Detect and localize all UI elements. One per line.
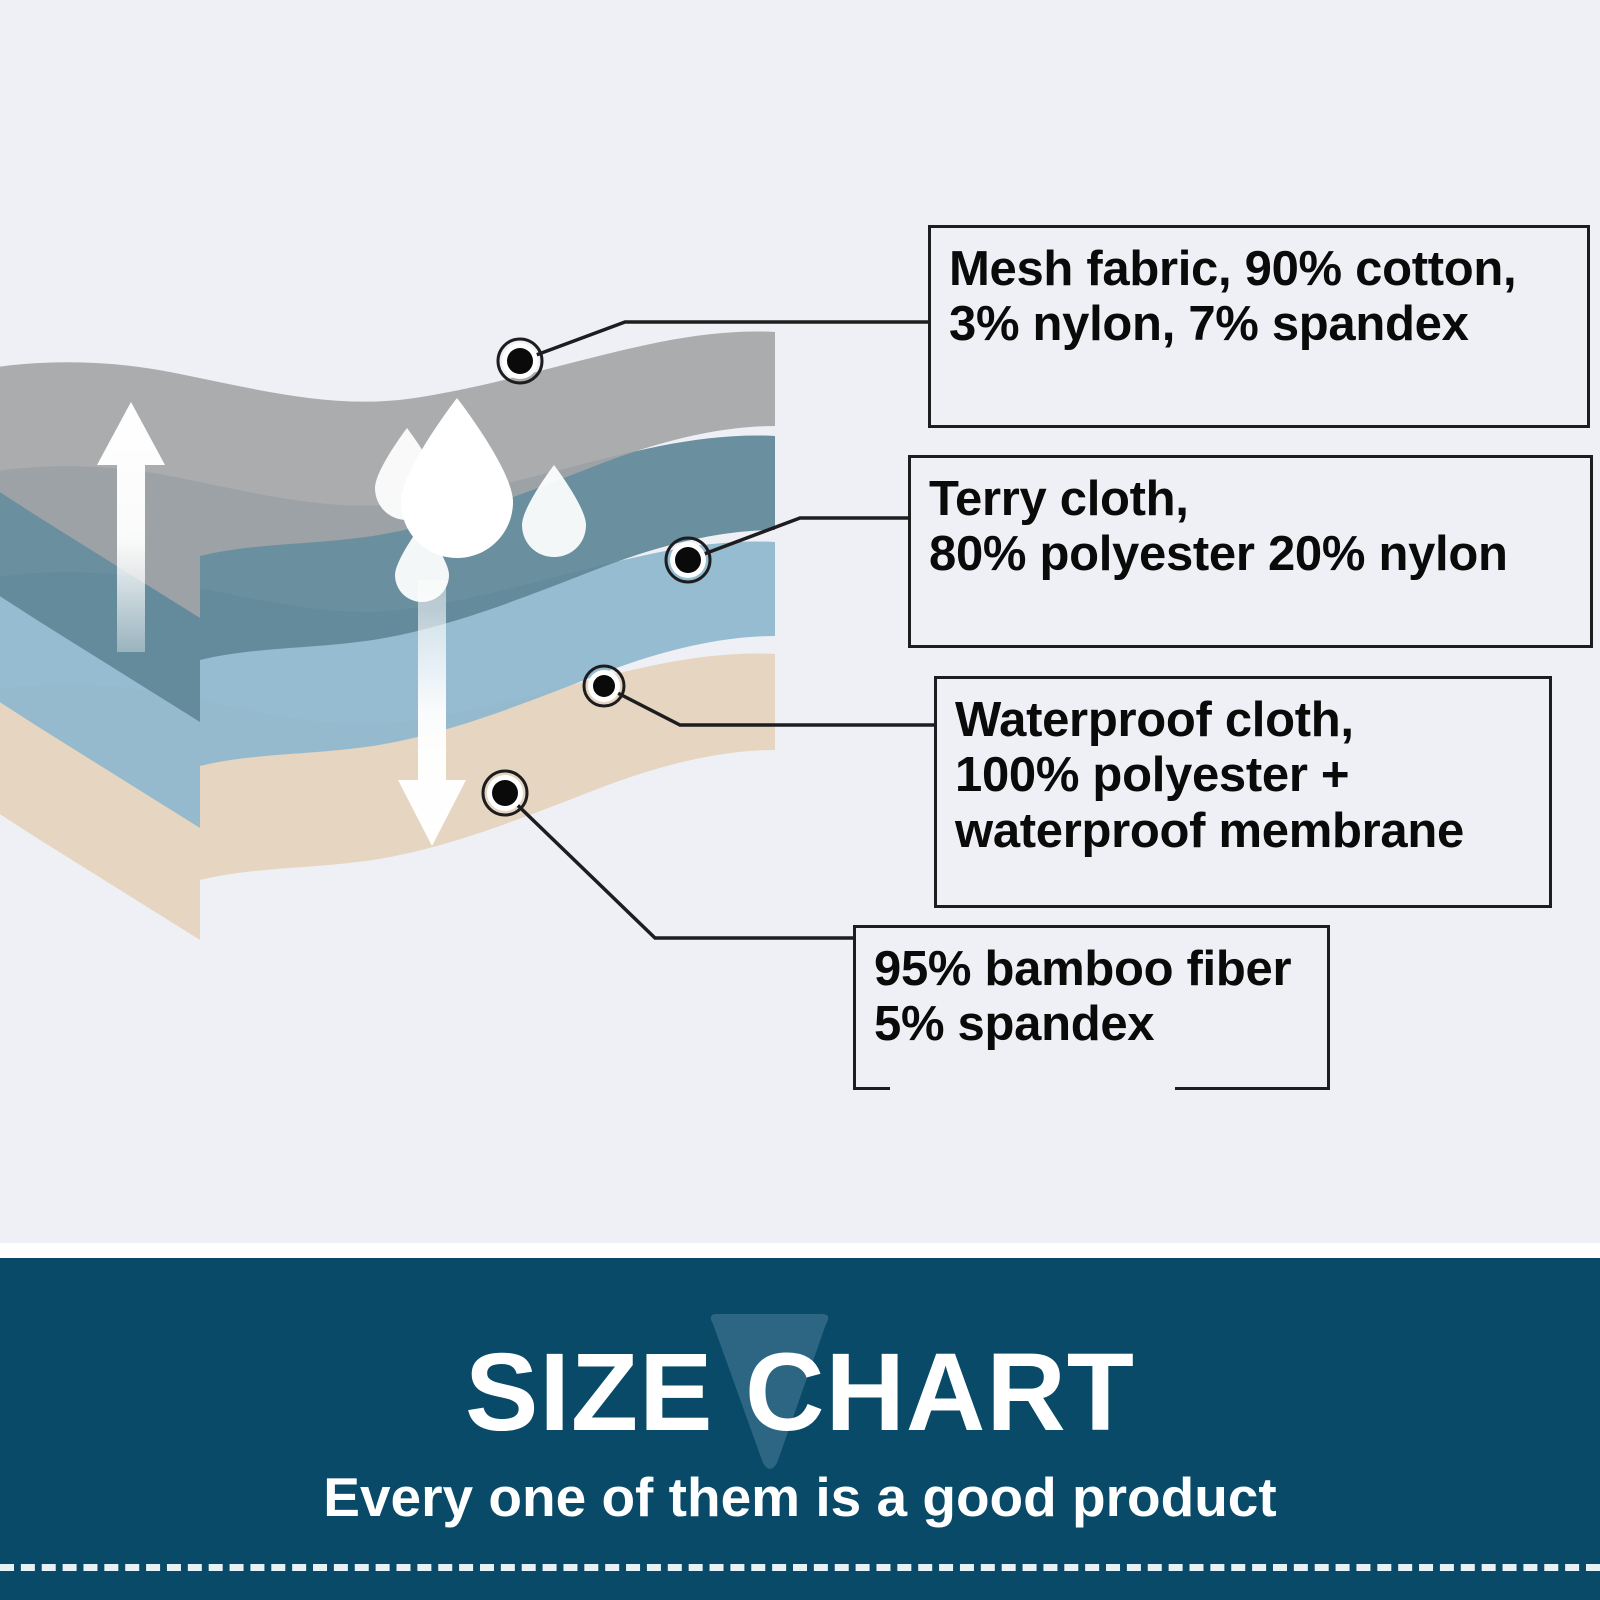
callout-waterproof-cloth[interactable]: Waterproof cloth, 100% polyester + water… xyxy=(934,676,1552,908)
size-chart-banner: SIZE CHART Every one of them is a good p… xyxy=(0,1258,1600,1600)
fabric-layers-illustration xyxy=(0,280,800,980)
callout-terry-cloth-label: Terry cloth, 80% polyester 20% nylon xyxy=(929,472,1508,583)
dashed-divider xyxy=(0,1564,1600,1571)
callout-bamboo-fiber[interactable]: 95% bamboo fiber 5% spandex xyxy=(853,925,1330,1090)
callout-terry-cloth[interactable]: Terry cloth, 80% polyester 20% nylon xyxy=(908,455,1593,648)
product-infographic: Mesh fabric, 90% cotton, 3% nylon, 7% sp… xyxy=(0,0,1600,1600)
callout-bamboo-fiber-label: 95% bamboo fiber 5% spandex xyxy=(874,942,1291,1053)
callout-mesh-fabric-label: Mesh fabric, 90% cotton, 3% nylon, 7% sp… xyxy=(949,242,1516,353)
fabric-layers-panel: Mesh fabric, 90% cotton, 3% nylon, 7% sp… xyxy=(0,0,1600,1243)
callout-bamboo-border-gap xyxy=(890,1084,1175,1092)
banner-title: SIZE CHART xyxy=(0,1338,1600,1448)
banner-subtitle: Every one of them is a good product xyxy=(0,1470,1600,1525)
callout-mesh-fabric[interactable]: Mesh fabric, 90% cotton, 3% nylon, 7% sp… xyxy=(928,225,1590,428)
callout-waterproof-cloth-label: Waterproof cloth, 100% polyester + water… xyxy=(955,693,1464,859)
